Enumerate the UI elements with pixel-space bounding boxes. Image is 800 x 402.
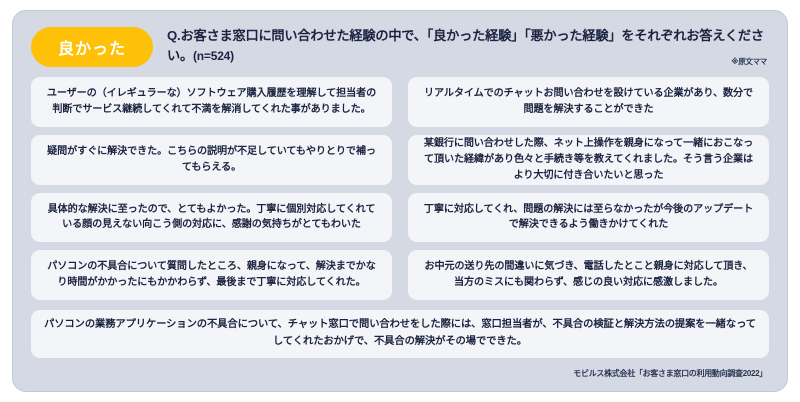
- slide-root: 良かった Q.お客さま窓口に問い合わせた経験の中で、「良かった経験」「悪かった経…: [0, 0, 800, 402]
- quote-card: パソコンの不具合について質問したところ、親身になって、解決までかなり時間がかかっ…: [31, 250, 392, 300]
- quote-card-grid: ユーザーの（イレギュラーな）ソフトウェア購入履歴を理解して担当者の判断でサービス…: [31, 71, 769, 358]
- quote-card: 丁寧に対応してくれ、問題の解決には至らなかったが今後のアップデートで解決できるよ…: [408, 193, 769, 243]
- question-body: Q.お客さま窓口に問い合わせた経験の中で、「良かった経験」「悪かった経験」をそれ…: [167, 28, 764, 63]
- panel-header: 良かった Q.お客さま窓口に問い合わせた経験の中で、「良かった経験」「悪かった経…: [31, 25, 769, 71]
- quote-text: パソコンの不具合について質問したところ、親身になって、解決までかなり時間がかかっ…: [43, 259, 380, 291]
- survey-panel: 良かった Q.お客さま窓口に問い合わせた経験の中で、「良かった経験」「悪かった経…: [12, 10, 788, 392]
- quote-card: リアルタイムでのチャットお問い合わせを設けている企業があり、数分で問題を解決する…: [408, 77, 769, 127]
- quote-card-wide: パソコンの業務アプリケーションの不具合について、チャット窓口で問い合わせをした際…: [31, 310, 769, 358]
- quote-text: 某銀行に問い合わせした際、ネット上操作を親身になって一緒におこなって頂いた経緯が…: [420, 136, 757, 184]
- question-sample-size: (n=524): [193, 49, 234, 63]
- panel-footer: モビルス株式会社「お客さま窓口の利用動向調査2022」: [31, 358, 769, 381]
- category-badge-positive: 良かった: [31, 27, 153, 67]
- quote-card: 具体的な解決に至ったので、とてもよかった。丁寧に個別対応してくれている顔の見えな…: [31, 193, 392, 243]
- quote-card: 某銀行に問い合わせした際、ネット上操作を親身になって一緒におこなって頂いた経緯が…: [408, 135, 769, 185]
- quote-text: 具体的な解決に至ったので、とてもよかった。丁寧に個別対応してくれている顔の見えな…: [43, 202, 380, 234]
- source-note: ※原文ママ: [731, 56, 767, 67]
- quote-text: リアルタイムでのチャットお問い合わせを設けている企業があり、数分で問題を解決する…: [420, 86, 757, 118]
- question-text: Q.お客さま窓口に問い合わせた経験の中で、「良かった経験」「悪かった経験」をそれ…: [167, 26, 769, 65]
- footer-attribution: モビルス株式会社「お客さま窓口の利用動向調査2022」: [573, 369, 767, 378]
- quote-card: お中元の送り先の間違いに気づき、電話したとこと親身に対応して頂き、当方のミスにも…: [408, 250, 769, 300]
- question-block: Q.お客さま窓口に問い合わせた経験の中で、「良かった経験」「悪かった経験」をそれ…: [167, 25, 769, 65]
- quote-card: ユーザーの（イレギュラーな）ソフトウェア購入履歴を理解して担当者の判断でサービス…: [31, 77, 392, 127]
- quote-card: 疑問がすぐに解決できた。こちらの説明が不足していてもやりとりで補ってもらえる。: [31, 135, 392, 185]
- quote-text: お中元の送り先の間違いに気づき、電話したとこと親身に対応して頂き、当方のミスにも…: [420, 259, 757, 291]
- quote-text: ユーザーの（イレギュラーな）ソフトウェア購入履歴を理解して担当者の判断でサービス…: [43, 86, 380, 118]
- quote-text: パソコンの業務アプリケーションの不具合について、チャット窓口で問い合わせをした際…: [43, 317, 757, 350]
- quote-text: 疑問がすぐに解決できた。こちらの説明が不足していてもやりとりで補ってもらえる。: [43, 144, 380, 176]
- quote-text: 丁寧に対応してくれ、問題の解決には至らなかったが今後のアップデートで解決できるよ…: [420, 202, 757, 234]
